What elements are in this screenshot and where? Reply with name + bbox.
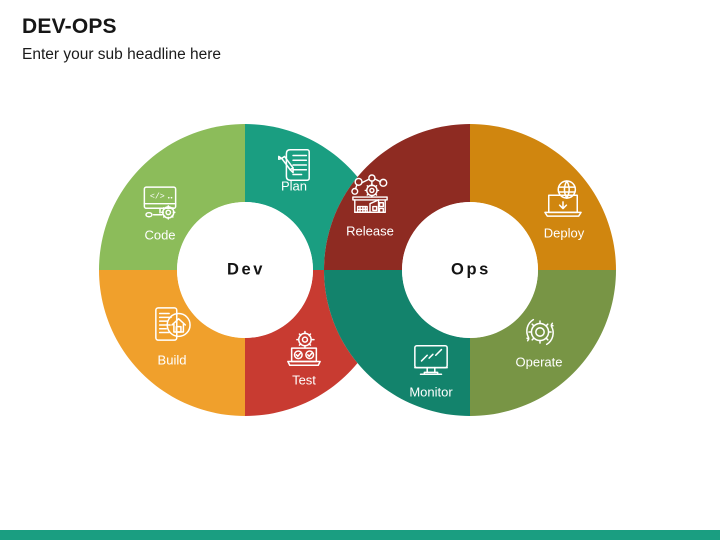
bottom-accent-bar — [0, 530, 720, 540]
dev-hub-label: Dev — [227, 261, 265, 280]
devops-loop-svg: </> — [0, 0, 720, 540]
svg-text:</>: </> — [150, 192, 165, 202]
ops-hub-label: Ops — [451, 261, 491, 280]
devops-infinity-diagram: </> — [0, 0, 720, 540]
